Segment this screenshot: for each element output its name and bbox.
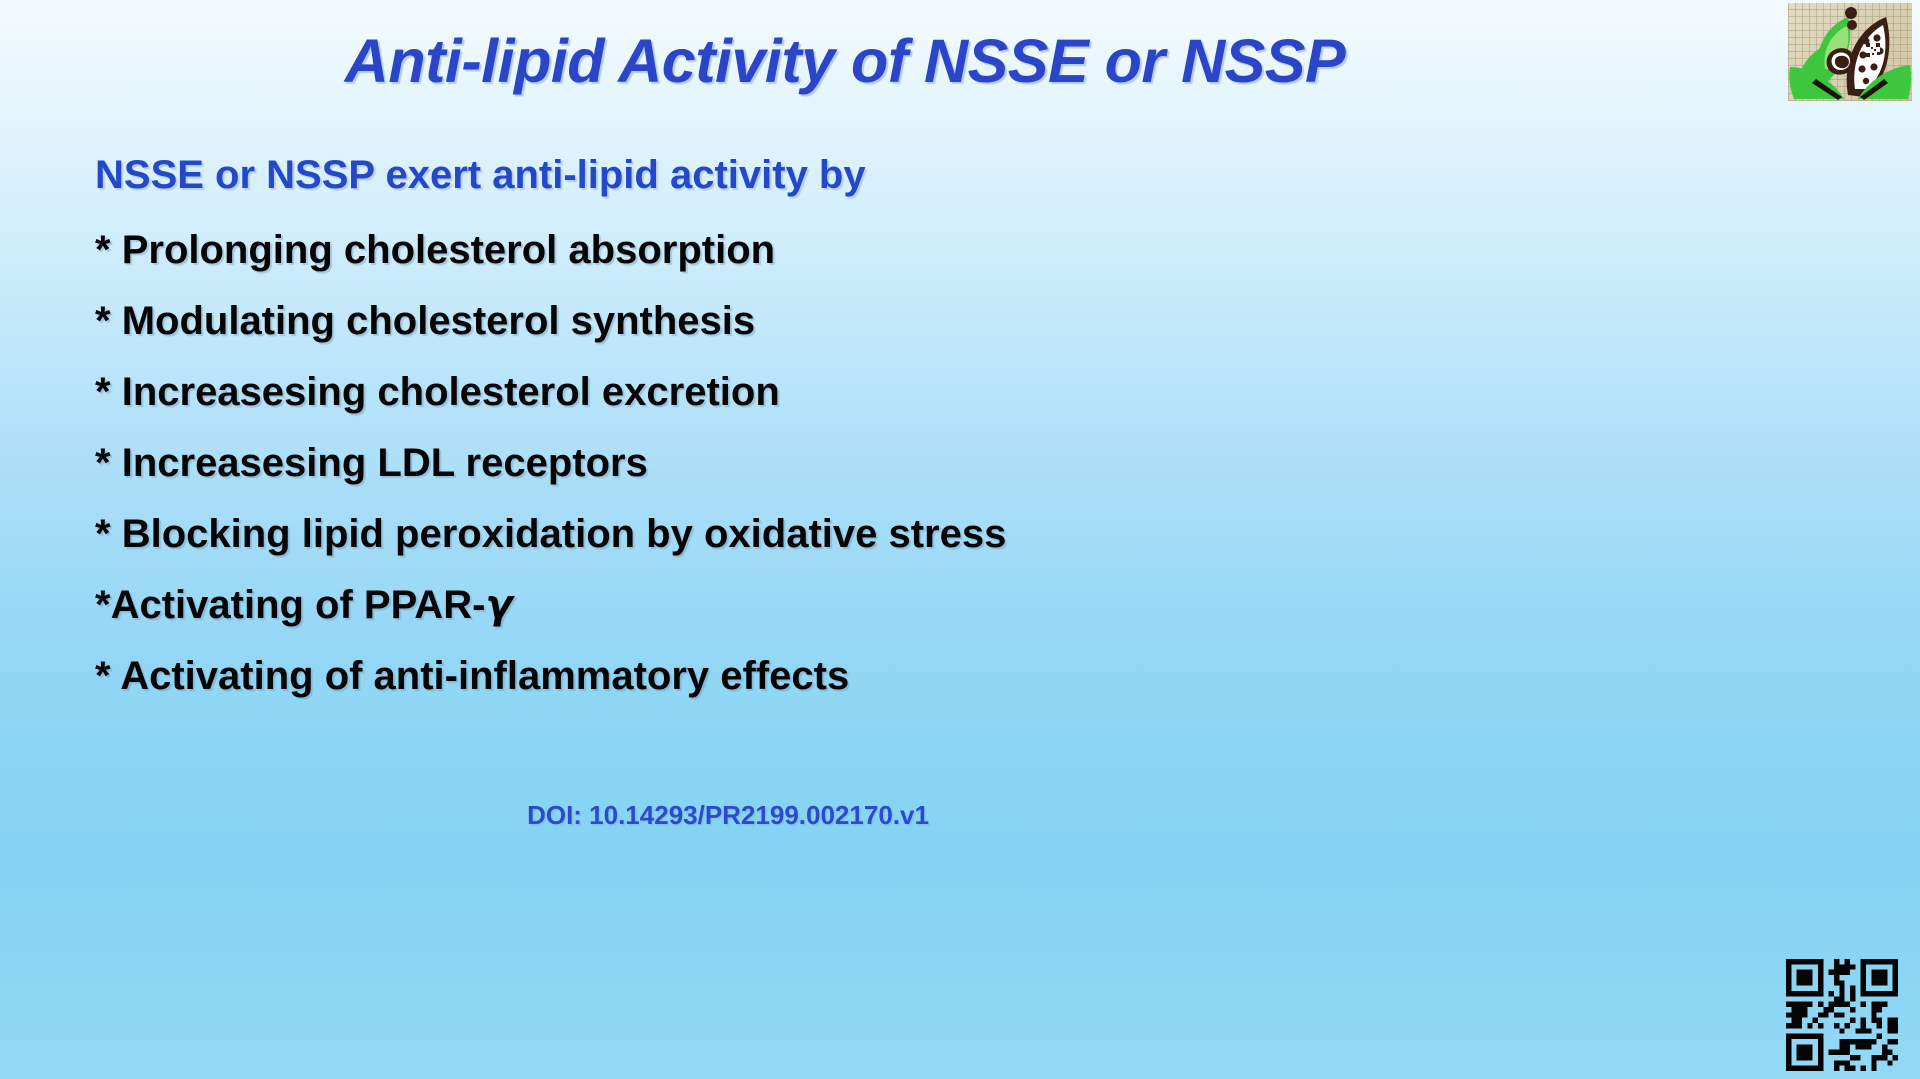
bullet-marker: *	[95, 583, 111, 627]
list-item-label: Increasesing LDL receptors	[122, 441, 648, 485]
list-item-label: Prolonging cholesterol absorption	[122, 228, 775, 272]
list-item: * Increasesing cholesterol excretion	[95, 372, 1595, 412]
slide-canvas: Anti-lipid Activity of NSSE or NSSP	[0, 0, 1920, 1079]
doi-label: DOI: 10.14293/PR2199.002170.v1	[0, 800, 1456, 831]
gamma-symbol: γ	[485, 582, 512, 628]
bullet-marker: *	[95, 441, 111, 485]
page-title: Anti-lipid Activity of NSSE or NSSP	[0, 26, 1690, 96]
list-item: * Blocking lipid peroxidation by oxidati…	[95, 514, 1595, 554]
content-list: NSSE or NSSP exert anti-lipid activity b…	[95, 155, 1595, 696]
bullet-marker: *	[95, 228, 111, 272]
list-item: *Activating of PPAR-γ	[95, 585, 1595, 625]
list-item-label: Modulating cholesterol synthesis	[122, 299, 755, 343]
logo-artwork	[1788, 3, 1912, 101]
lead-statement: NSSE or NSSP exert anti-lipid activity b…	[95, 155, 1595, 195]
bullet-marker: *	[95, 299, 111, 343]
bullet-marker: *	[95, 512, 111, 556]
list-item: * Modulating cholesterol synthesis	[95, 301, 1595, 341]
list-item-label: Activating of anti-inflammatory effects	[120, 654, 849, 698]
list-item: * Increasesing LDL receptors	[95, 443, 1595, 483]
qr-code-matrix	[1786, 959, 1898, 1071]
list-item: * Activating of anti-inflammatory effect…	[95, 656, 1595, 696]
list-item-label: Activating of PPAR-	[111, 583, 486, 627]
bullet-marker: *	[95, 654, 111, 698]
nigella-sativa-leaf-logo	[1788, 3, 1912, 101]
list-item-label: Increasesing cholesterol excretion	[122, 370, 780, 414]
list-item-label: Blocking lipid peroxidation by oxidative…	[122, 512, 1007, 556]
doi-qr-code	[1786, 959, 1898, 1071]
bullet-marker: *	[95, 370, 111, 414]
list-item: * Prolonging cholesterol absorption	[95, 230, 1595, 270]
